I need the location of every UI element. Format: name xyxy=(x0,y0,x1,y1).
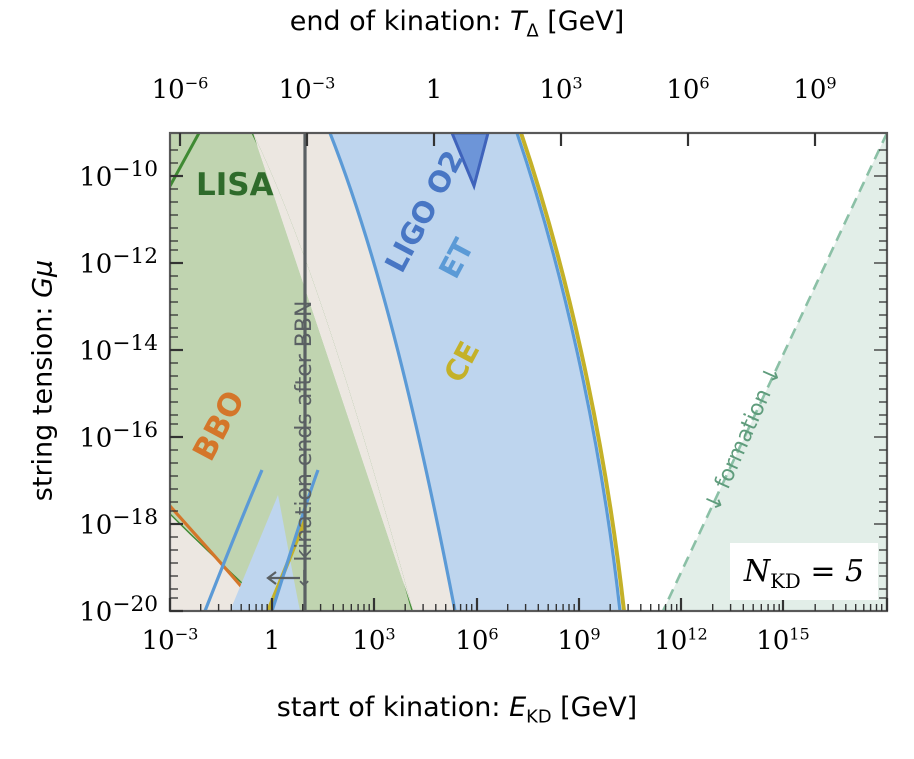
nkd-annotation-label: NKD = 5 xyxy=(744,554,864,589)
gravitational-wave-string-tension-plot: end of kination: TΔ [GeV] start of kinat… xyxy=(0,0,914,759)
region-label-lisa: LISA xyxy=(196,167,274,203)
nkd-annotation-box: NKD = 5 xyxy=(730,543,878,600)
region-label-bbn: ← kination ends after BBN xyxy=(292,301,317,587)
